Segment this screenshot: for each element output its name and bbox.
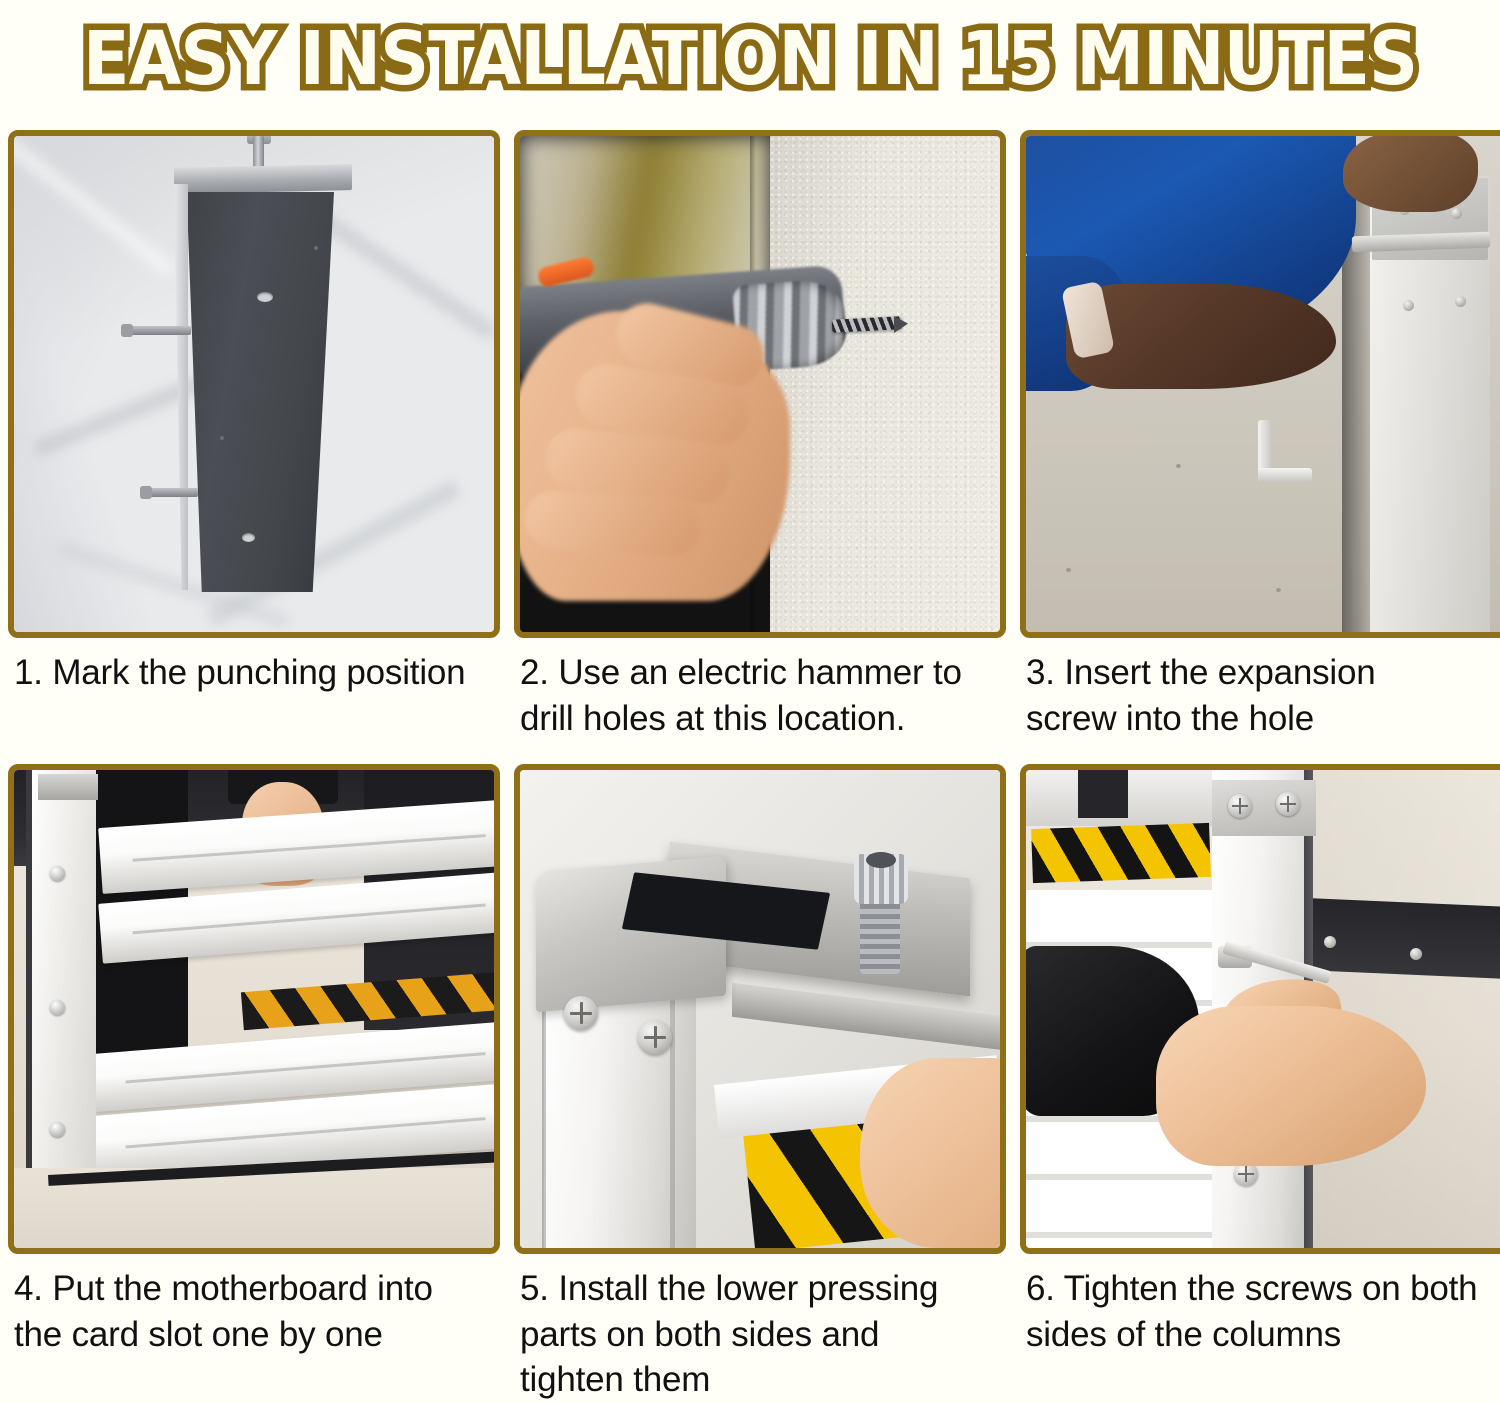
phillips-screw [1228,794,1252,818]
step-1-photo [14,136,494,632]
step-1-caption: 1. Mark the punching position [8,638,500,696]
step-6-caption-cell: 6. Tighten the screws on both sides of t… [1020,1254,1500,1394]
plate-screw [1455,296,1466,307]
column-post-with-slot [32,770,96,1170]
step-1-caption-cell: 1. Mark the punching position [8,638,500,764]
step-4-photo [14,770,494,1248]
step-5-caption-cell: 5. Install the lower pressing parts on b… [514,1254,1006,1394]
surface-speck [220,436,224,440]
floor-speck [1276,588,1281,592]
caption-line: tighten them [520,1357,1006,1403]
step-5-photo-frame [514,764,1006,1254]
caption-line: the card slot one by one [14,1312,500,1358]
threshold-screw [1324,936,1336,948]
hazard-stripe [1031,823,1211,883]
step-4-caption: 4. Put the motherboard into the card slo… [8,1254,500,1357]
post-screw [50,1000,65,1015]
bolt-hex-socket [866,852,896,868]
caption-line: 1. Mark the punching position [14,650,500,696]
textured-wall [770,136,1000,632]
step-2-photo-frame [514,130,1006,638]
step-3-photo-frame [1020,130,1500,638]
post-top-plate [38,774,98,800]
step-6-photo-frame [1020,764,1500,1254]
page-title: EASY INSTALLATION IN 15 MINUTES [83,22,1417,96]
step-6-caption: 6. Tighten the screws on both sides of t… [1020,1254,1500,1357]
mounting-hole [242,533,255,542]
plate-screw [1451,208,1462,219]
caption-line: 6. Tighten the screws on both [1026,1266,1500,1312]
floor-speck [1066,568,1071,572]
header-banner: EASY INSTALLATION IN 15 MINUTES [0,0,1500,118]
caption-line: sides of the columns [1026,1312,1500,1358]
step-4-caption-cell: 4. Put the motherboard into the card slo… [8,1254,500,1394]
hex-key-wrench [1258,420,1272,482]
installation-steps-grid: 1. Mark the punching position 2. Use an … [8,130,1492,1395]
surface-speck [314,246,318,250]
step-5-caption: 5. Install the lower pressing parts on b… [514,1254,1006,1403]
installer-hand [860,1058,1000,1248]
step-1-photo-frame [8,130,500,638]
phillips-screw [1276,792,1300,816]
thumb-bolt-thread [860,898,900,974]
step-3-photo [1026,136,1500,632]
step-5-photo [520,770,1000,1248]
step-2-caption-cell: 2. Use an electric hammer to drill holes… [514,638,1006,764]
post-groove [670,976,675,1248]
plate-screw [1403,300,1414,311]
step-5-photo-cell [514,764,1006,1254]
post-screw [50,866,65,881]
step-6-photo-cell [1020,764,1500,1254]
caption-line: 3. Insert the expansion [1026,650,1500,696]
finger [523,488,702,558]
caption-line: 5. Install the lower pressing [520,1266,1006,1312]
step-3-photo-cell [1020,130,1500,638]
caption-line: drill holes at this location. [520,696,1006,742]
installer-hand [1156,1006,1426,1166]
phillips-screw [638,1020,672,1054]
expansion-bolt [148,488,198,497]
mounting-hole [257,292,273,302]
dark-gap [1078,770,1128,818]
post-top-cap [174,164,352,194]
step-1-photo-cell [8,130,500,638]
step-4-photo-frame [8,764,500,1254]
step-3-caption: 3. Insert the expansion screw into the h… [1020,638,1500,741]
step-4-photo-cell [8,764,500,1254]
step-2-caption: 2. Use an electric hammer to drill holes… [514,638,1006,741]
expansion-bolt [129,326,191,335]
floor-speck [1176,464,1181,468]
post-screw [50,1122,65,1137]
step-2-photo [520,136,1000,632]
step-6-photo [1026,770,1500,1248]
threshold-screw [1410,948,1422,960]
worker-second-hand [1343,136,1478,212]
post-groove [542,990,546,1248]
step-3-caption-cell: 3. Insert the expansion screw into the h… [1020,638,1500,764]
phillips-screw [564,996,598,1030]
column-post [182,192,334,592]
caption-line: screw into the hole [1026,696,1500,742]
caption-line: 4. Put the motherboard into [14,1266,500,1312]
caption-line: 2. Use an electric hammer to [520,650,1006,696]
caption-line: parts on both sides and [520,1312,1006,1358]
step-2-photo-cell [514,130,1006,638]
